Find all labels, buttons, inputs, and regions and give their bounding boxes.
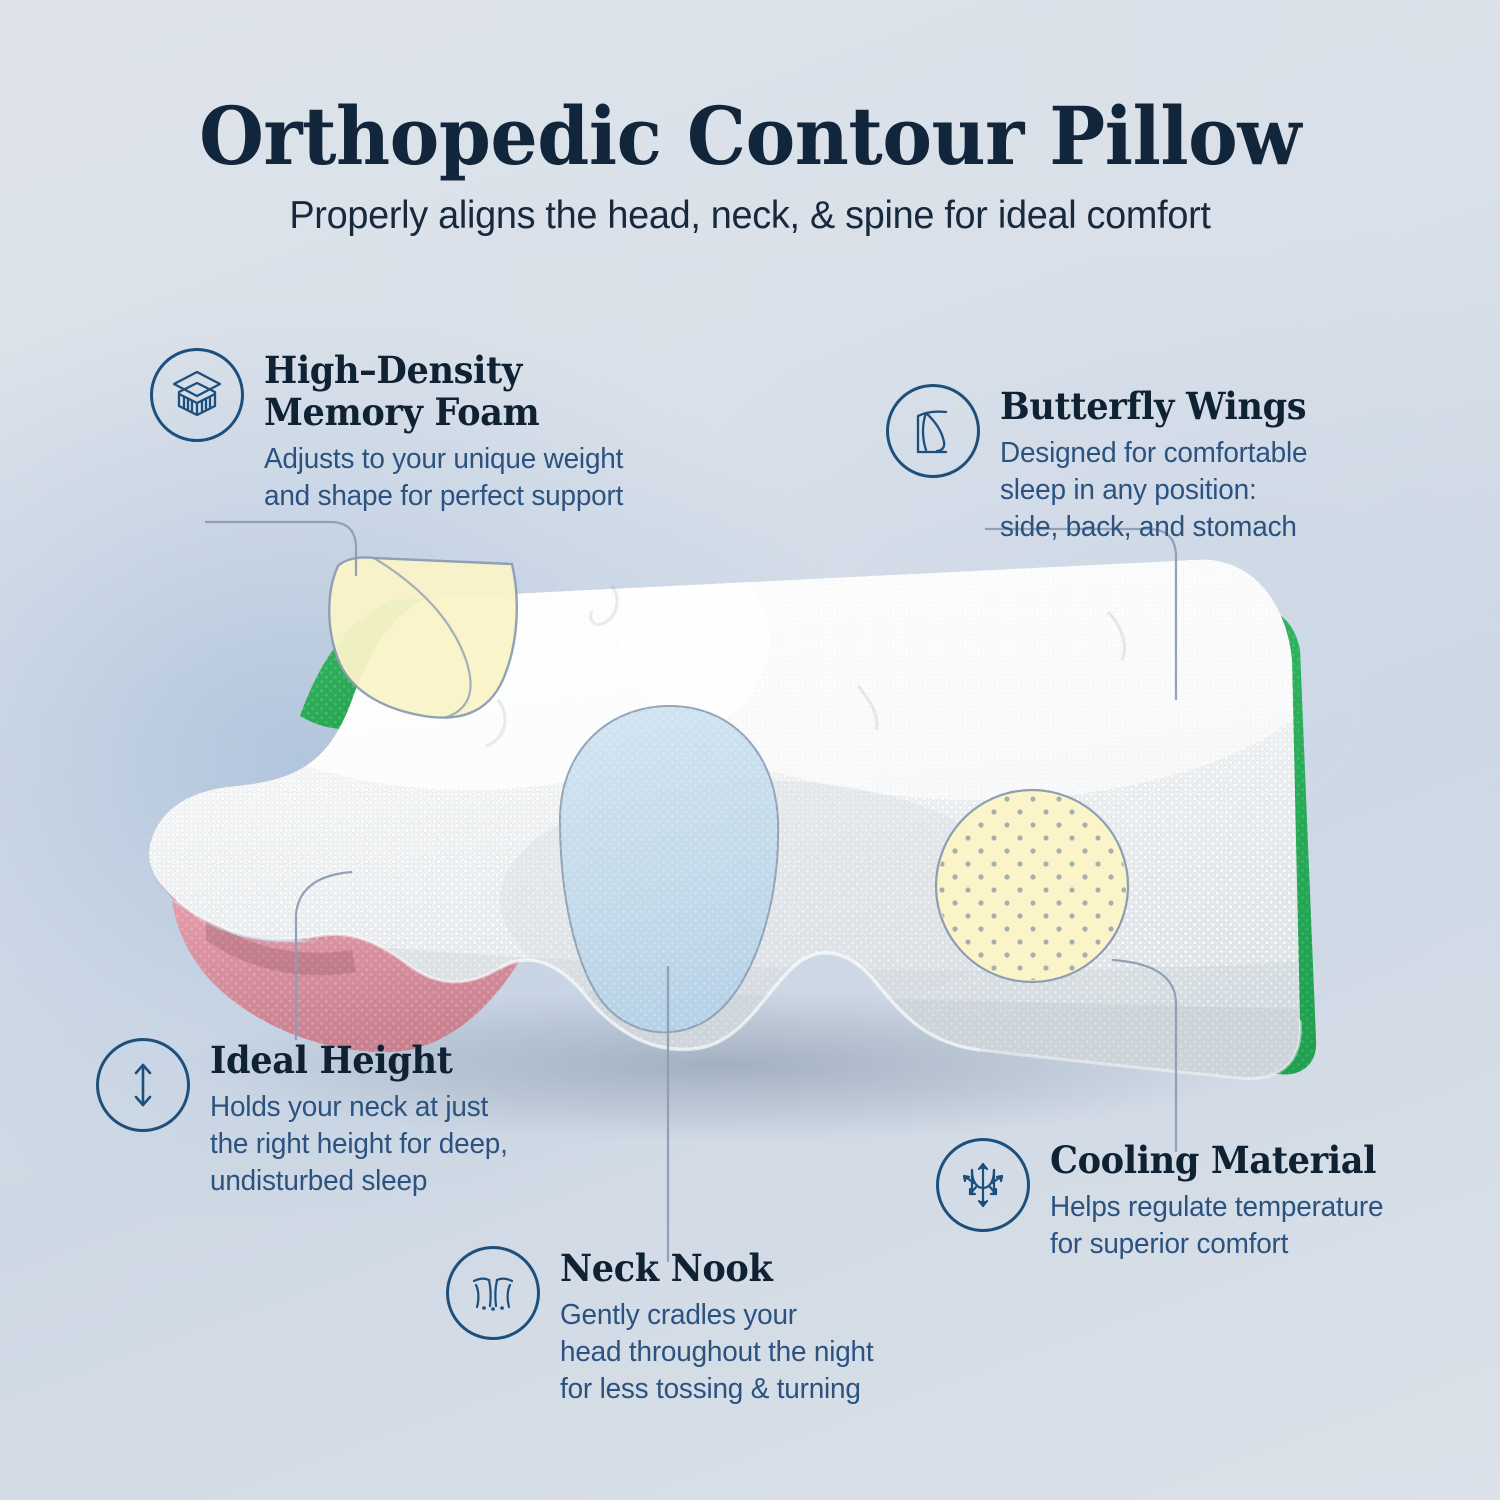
feature-description: Designed for comfortable sleep in any po… bbox=[1000, 435, 1316, 546]
feature-heading: Neck Nook bbox=[560, 1248, 864, 1290]
feature-callout-memory-foam: High–Density Memory Foam Adjusts to your… bbox=[150, 348, 710, 515]
feature-description: Adjusts to your unique weight and shape … bbox=[264, 441, 623, 515]
feature-description: Helps regulate temperature for superior … bbox=[1050, 1189, 1386, 1263]
leader-memory-foam bbox=[205, 522, 356, 576]
feature-heading: Cooling Material bbox=[1050, 1140, 1376, 1182]
feature-heading: Ideal Height bbox=[210, 1040, 499, 1082]
feature-heading: Butterfly Wings bbox=[1000, 386, 1306, 428]
infographic-canvas: Orthopedic Contour Pillow Properly align… bbox=[0, 0, 1500, 1500]
feature-callout-neck-nook: Neck Nook Gently cradles your head throu… bbox=[446, 1246, 966, 1408]
neck-cradle-icon bbox=[446, 1246, 540, 1340]
feature-callout-cooling-material: Cooling Material Helps regulate temperat… bbox=[936, 1138, 1456, 1263]
page-title: Orthopedic Contour Pillow bbox=[53, 96, 1448, 178]
feature-description: Gently cradles your head throughout the … bbox=[560, 1297, 873, 1408]
cooling-airflow-icon bbox=[936, 1138, 1030, 1232]
leader-cooling bbox=[1112, 960, 1176, 1152]
feature-callout-butterfly-wings: Butterfly Wings Designed for comfortable… bbox=[886, 384, 1406, 546]
vertical-arrow-icon bbox=[96, 1038, 190, 1132]
leader-butterfly-wings bbox=[985, 529, 1176, 700]
feature-description: Holds your neck at just the right height… bbox=[210, 1089, 508, 1200]
leader-ideal-height bbox=[296, 872, 352, 1040]
feature-callout-ideal-height: Ideal Height Holds your neck at just the… bbox=[96, 1038, 576, 1200]
page-subtitle: Properly aligns the head, neck, & spine … bbox=[23, 194, 1478, 238]
header: Orthopedic Contour Pillow Properly align… bbox=[0, 96, 1500, 237]
butterfly-wing-icon bbox=[886, 384, 980, 478]
layered-foam-icon bbox=[150, 348, 244, 442]
feature-heading: High–Density Memory Foam bbox=[264, 350, 612, 434]
